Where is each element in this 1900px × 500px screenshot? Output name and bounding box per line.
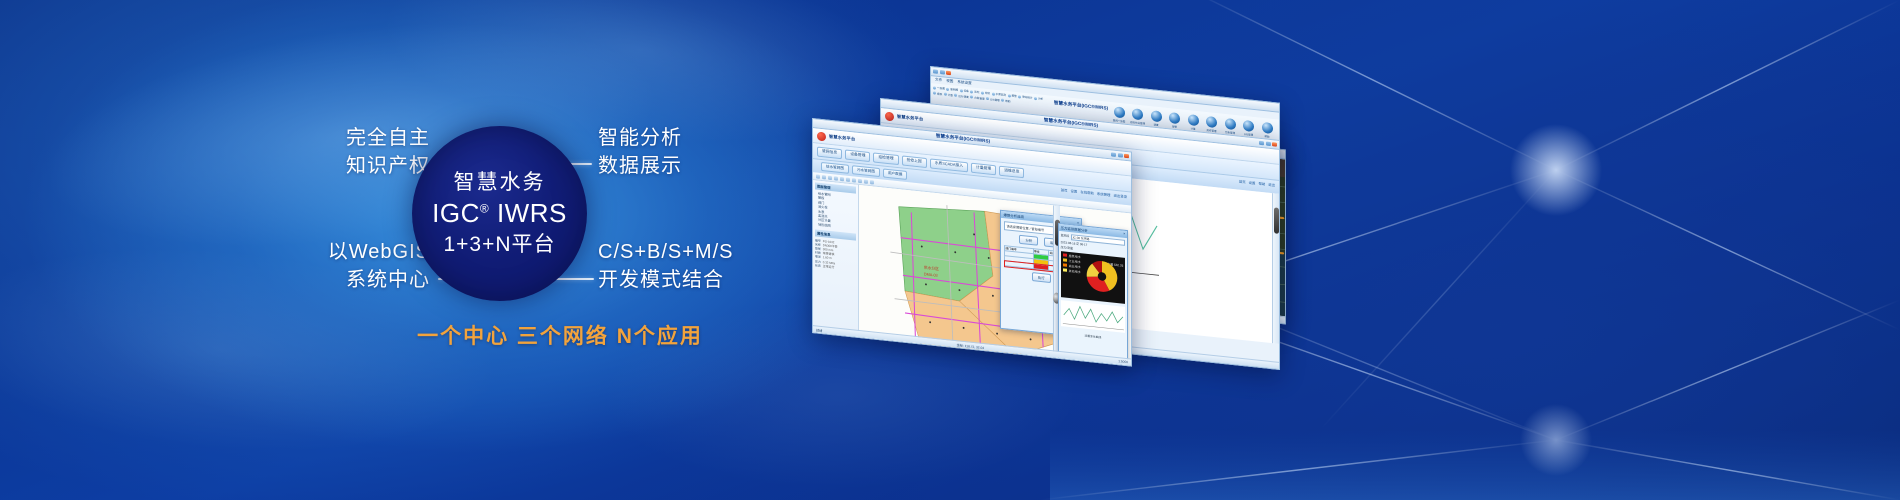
gis-brand-label: 智慧水务平台 — [829, 134, 855, 143]
ribbon-big-button[interactable]: 帮助 — [1259, 122, 1275, 139]
gis-right-link[interactable]: 首页 — [1061, 187, 1068, 193]
monitor-point-label: 监测点 — [1061, 233, 1070, 240]
feature-line1: 完全自主 — [310, 124, 430, 152]
globe-icon — [1188, 114, 1199, 126]
feature-line2: 知识产权 — [310, 152, 430, 180]
globe-icon — [1243, 120, 1254, 132]
ribbon-big-button[interactable]: 管网一张图 — [1111, 106, 1127, 123]
chart-right-links[interactable]: 首页设置帮助退出 — [1239, 179, 1275, 188]
globe-icon — [1132, 108, 1143, 120]
chart-right-link[interactable]: 帮助 — [1258, 181, 1265, 187]
logo-icon — [885, 111, 894, 121]
product-suffix: IWRS — [497, 198, 567, 228]
identify-icon — [858, 179, 862, 183]
gis-left-panel[interactable]: 图层管理 给水管网管段阀门消火栓水表监测点分区计量地形底图 属性信息 编号PG-… — [813, 180, 859, 350]
pie-legend: 居民用水工业用水商业用水其他用水 — [1061, 251, 1083, 299]
analyze-button[interactable]: 分析 — [1019, 235, 1038, 246]
gis-nav-item[interactable]: 设备管理 — [845, 149, 870, 162]
legend-swatch — [1063, 259, 1067, 262]
feature-top-right: 智能分析 数据展示 — [598, 124, 682, 181]
zoom-out-icon — [834, 176, 838, 180]
globe-icon — [1225, 118, 1236, 130]
close-icon — [946, 71, 951, 76]
save-icon — [822, 175, 826, 179]
core-circle: 智慧水务 IGC® IWRS 1+3+N平台 — [412, 126, 587, 301]
ribbon-window-controls[interactable] — [933, 69, 951, 75]
maximize-icon — [1118, 153, 1123, 158]
layer-tree[interactable]: 给水管网管段阀门消火栓水表监测点分区计量地形底图 — [815, 191, 856, 231]
minimize-icon — [933, 69, 938, 74]
gis-right-link[interactable]: 系统管理 — [1097, 191, 1111, 197]
legend-swatch — [1063, 264, 1067, 267]
ribbon-big-button[interactable]: 巡检作业管理 — [1130, 108, 1146, 125]
gis-right-link[interactable]: 退出登录 — [1113, 193, 1127, 199]
gis-nav-item[interactable]: 巡检管理 — [873, 152, 898, 165]
chart-window-controls[interactable] — [1259, 141, 1277, 147]
globe-icon — [1169, 112, 1180, 124]
product-prefix: IGC — [432, 198, 480, 228]
layers-icon — [864, 179, 868, 183]
close-icon — [1124, 154, 1129, 159]
logo-icon — [817, 131, 826, 141]
legend-swatch — [1063, 254, 1067, 257]
pan-icon — [840, 177, 844, 181]
app-window-gis[interactable]: 智慧水务平台(IGC®IWRS) 智慧水务平台 管网信息设备管理巡检管理抢修上报… — [812, 118, 1132, 367]
ribbon-tool[interactable]: 报表 — [933, 91, 942, 96]
open-icon — [816, 174, 820, 178]
feature-line1: 以WebGIS — [296, 238, 430, 266]
maximize-icon — [940, 70, 945, 75]
ribbon-tool[interactable]: GIS管理 — [986, 96, 1000, 101]
gis-nav-item[interactable]: 计量管理 — [971, 162, 996, 175]
feature-line1: 智能分析 — [598, 124, 682, 152]
gis-window-controls[interactable] — [1111, 152, 1129, 158]
attribute-value: 正常运行 — [823, 264, 835, 269]
tagline: 一个中心 三个网络 N个应用 — [300, 320, 820, 350]
ribbon-tool[interactable]: 运行调度 — [954, 93, 968, 99]
infographic: 智慧水务 IGC® IWRS 1+3+N平台 完全自主 知识产权 智能分析 数据… — [0, 0, 900, 500]
ribbon-tool[interactable]: 一张图 — [933, 85, 945, 90]
ribbon-tool[interactable]: 分析 — [1034, 96, 1043, 101]
core-product-name: IGC® IWRS — [432, 198, 567, 230]
gis-status-right: 1:5000 — [1118, 359, 1128, 364]
flow-sparkline — [1061, 300, 1126, 333]
close-icon[interactable]: × — [1123, 232, 1125, 236]
ribbon-tool[interactable]: 台账管理 — [970, 95, 984, 101]
ribbon-big-button[interactable]: 台账管理 — [1222, 118, 1238, 135]
measure-icon — [852, 178, 856, 182]
spark-caption: 流量变化曲线 — [1061, 331, 1126, 342]
feature-line1: C/S+B/S+M/S — [598, 238, 734, 266]
pressure-dialog-content: 监测点 JC-08 东环路 2023-08-16 至 08-17 压力/流量 居… — [1059, 231, 1128, 344]
ribbon-big-button[interactable]: 调度 — [1148, 110, 1164, 127]
select-icon — [846, 177, 850, 181]
ribbon-tool[interactable]: 查询统计 — [1018, 94, 1032, 100]
attribute-list: 编号PG-1032名称DN300干管管径300 mm材质球墨铸铁埋深1.60 m… — [815, 238, 856, 272]
gis-subnav-item[interactable]: 给水管网图 — [821, 162, 849, 174]
ribbon-big-button[interactable]: 抢修管理 — [1204, 116, 1220, 133]
chart-right-link[interactable]: 退出 — [1268, 182, 1275, 188]
chart-right-link[interactable]: 首页 — [1239, 179, 1246, 185]
gis-subnav-item[interactable]: 污水管网图 — [852, 165, 880, 177]
globe-icon — [1206, 116, 1217, 128]
ribbon-tool[interactable]: 抢修 — [981, 90, 990, 95]
ribbon-tool[interactable]: 巡检 — [970, 89, 979, 94]
core-cn-title: 智慧水务 — [454, 169, 546, 196]
gis-nav-item[interactable]: 水质SCADA接入 — [930, 158, 968, 172]
promo-banner: 智慧水务 IGC® IWRS 1+3+N平台 完全自主 知识产权 智能分析 数据… — [0, 0, 1900, 500]
gis-right-link[interactable]: 设置 — [1071, 188, 1078, 194]
minimize-icon — [1111, 152, 1116, 157]
ribbon-tool[interactable]: 报警 — [1008, 93, 1017, 98]
feature-bottom-left: 以WebGIS 系统中心 — [296, 238, 430, 295]
pie-legend-item: 其他用水 — [1063, 268, 1081, 274]
registered-mark-icon: ® — [480, 201, 489, 215]
gis-nav-item[interactable]: 抢修上报 — [902, 155, 927, 168]
print-icon — [870, 180, 874, 184]
attribute-key: 状态 — [815, 263, 821, 268]
ribbon-menu-item[interactable]: 视图 — [946, 79, 953, 85]
ribbon-menu-item[interactable]: 文件 — [935, 78, 942, 84]
ribbon-tool[interactable]: 管网图 — [946, 87, 958, 92]
ribbon-big-button[interactable]: 报警 — [1167, 112, 1183, 129]
chart-brand-label: 智慧水务平台 — [897, 114, 923, 123]
scroll-thumb[interactable] — [1274, 208, 1279, 235]
ribbon-big-button[interactable]: GIS管理 — [1241, 120, 1257, 137]
gis-status-left: 就绪 — [816, 327, 822, 333]
feature-line2: 开发模式结合 — [598, 266, 734, 294]
minimize-icon — [1259, 141, 1264, 146]
legend-swatch — [1063, 269, 1067, 272]
close-icon — [1272, 142, 1277, 147]
consumption-pie-chart — [1085, 257, 1119, 295]
ribbon-big-button[interactable]: 计量 — [1185, 114, 1201, 131]
zoom-in-icon — [828, 176, 832, 180]
chart-right-link[interactable]: 设置 — [1249, 180, 1256, 186]
ribbon-tool[interactable]: 计量 — [944, 92, 953, 97]
globe-icon — [1262, 122, 1273, 134]
maximize-icon — [1266, 141, 1271, 146]
gis-nav-item[interactable]: 管网信息 — [817, 146, 842, 159]
ribbon-tool[interactable]: 水质监测 — [992, 91, 1006, 97]
gis-subnav-item[interactable]: 用户数据 — [883, 168, 907, 180]
globe-icon — [1114, 106, 1125, 118]
globe-icon — [1151, 110, 1162, 122]
feature-line2: 系统中心 — [296, 266, 430, 294]
gis-nav-item[interactable]: 运维总览 — [999, 165, 1024, 178]
feature-top-left: 完全自主 知识产权 — [310, 124, 430, 181]
ribbon-tool[interactable]: 帮助 — [1001, 98, 1010, 103]
pressure-analysis-dialog[interactable]: 压力监测数据分析 × 监测点 JC-08 东环路 2023-08-16 至 08… — [1058, 223, 1129, 367]
gis-right-link[interactable]: 在线帮助 — [1080, 189, 1094, 195]
execute-button[interactable]: 执行 — [1032, 272, 1051, 283]
ribbon-tool[interactable]: 设备 — [960, 88, 969, 93]
core-platform-label: 1+3+N平台 — [443, 231, 555, 258]
feature-bottom-right: C/S+B/S+M/S 开发模式结合 — [598, 238, 734, 295]
consumption-pie-panel: 居民用水工业用水商业用水其他用水 供水量 532.25 — [1061, 251, 1126, 304]
feature-line2: 数据展示 — [598, 152, 682, 180]
